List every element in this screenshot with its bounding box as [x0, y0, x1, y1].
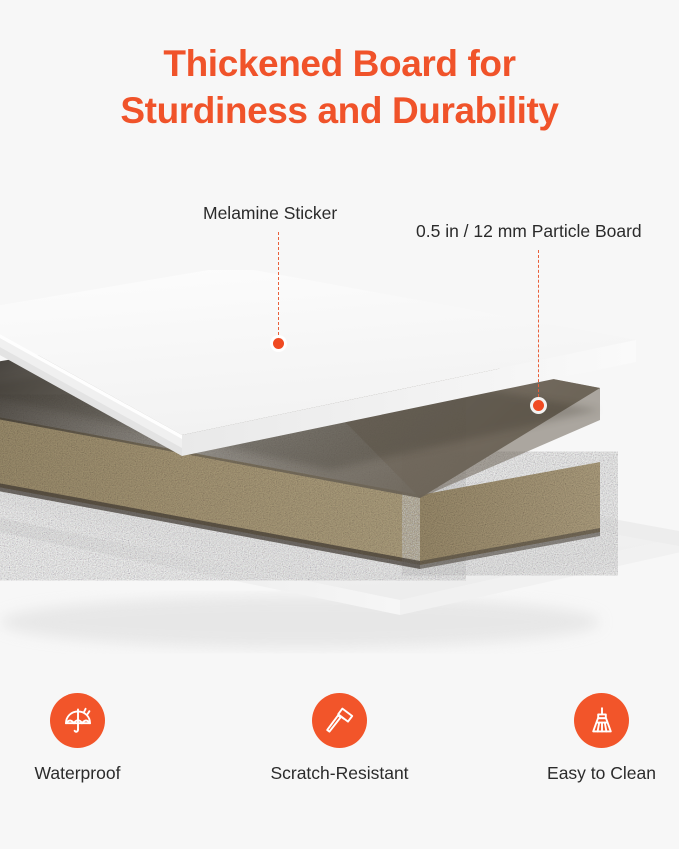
board-illustration	[0, 270, 679, 660]
feature-icon-badge-easy-to-clean	[574, 693, 629, 748]
page-title: Thickened Board for Sturdiness and Durab…	[0, 40, 679, 134]
page-title-line-1: Thickened Board for	[0, 40, 679, 87]
callout-dot-particle	[533, 400, 544, 411]
umbrella-icon	[61, 704, 95, 738]
feature-item-easy-to-clean: Easy to Clean	[527, 693, 677, 784]
feature-label-easy-to-clean: Easy to Clean	[547, 763, 656, 784]
feature-list: Waterproof Scratch-Resistant	[0, 693, 679, 784]
feature-label-scratch-resistant: Scratch-Resistant	[270, 763, 408, 784]
callout-dot-melamine	[273, 338, 284, 349]
feature-item-waterproof: Waterproof	[3, 693, 153, 784]
page-title-line-2: Sturdiness and Durability	[0, 87, 679, 134]
callout-leader-line-particle	[538, 250, 539, 402]
feature-icon-badge-scratch-resistant	[312, 693, 367, 748]
infographic-stage: Thickened Board for Sturdiness and Durab…	[0, 0, 679, 849]
broom-icon	[585, 704, 619, 738]
feature-label-waterproof: Waterproof	[35, 763, 121, 784]
feature-item-scratch-resistant: Scratch-Resistant	[265, 693, 415, 784]
callout-label-melamine-sticker: Melamine Sticker	[203, 203, 337, 224]
hammer-icon	[323, 704, 357, 738]
callout-leader-line-melamine	[278, 232, 279, 340]
feature-icon-badge-waterproof	[50, 693, 105, 748]
callout-label-particle-board: 0.5 in / 12 mm Particle Board	[416, 221, 642, 242]
